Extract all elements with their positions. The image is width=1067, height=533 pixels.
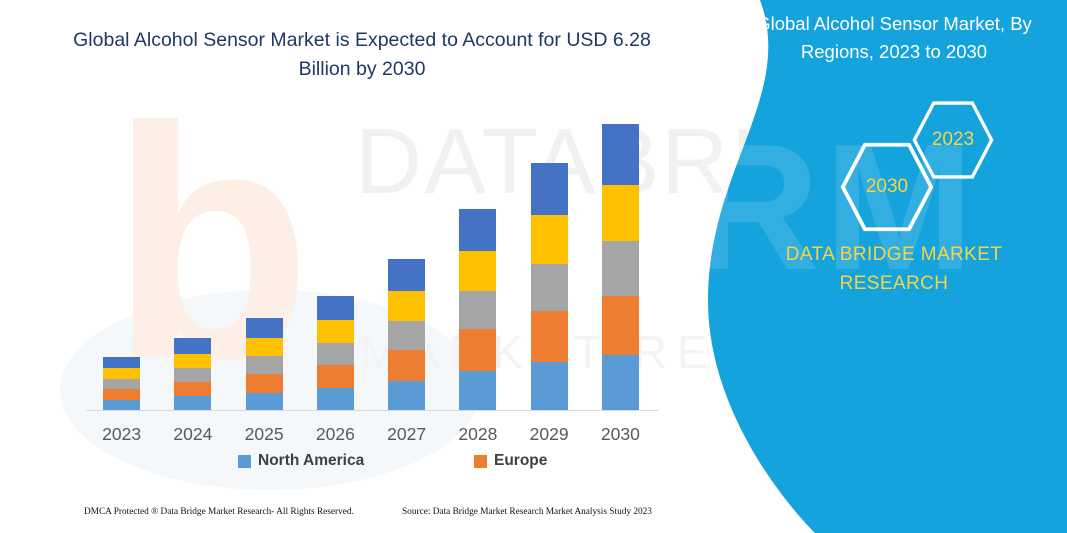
bar-segment-series-4 (103, 368, 140, 379)
x-label-2024: 2024 (158, 424, 228, 445)
bar-segment-north-america (174, 396, 211, 411)
legend-label: North America (258, 452, 364, 470)
chart-legend: North AmericaEurope (86, 452, 658, 478)
x-label-2026: 2026 (300, 424, 370, 445)
bar-segment-north-america (246, 393, 283, 411)
bar-segment-series-5 (103, 357, 140, 368)
bar-segment-series-4 (317, 320, 354, 343)
bar-segment-series-3 (531, 264, 568, 311)
bar-segment-north-america (459, 371, 496, 411)
bar-segment-series-4 (174, 354, 211, 369)
x-label-2030: 2030 (585, 424, 655, 445)
legend-swatch-icon (474, 455, 487, 468)
chart-title: Global Alcohol Sensor Market is Expected… (52, 26, 672, 84)
legend-item-europe[interactable]: Europe (474, 452, 547, 470)
bar-segment-series-4 (531, 215, 568, 264)
hexagon-2023: 2023 (911, 98, 995, 182)
bar-segment-north-america (602, 355, 639, 411)
footer-dmca-text: DMCA Protected ® Data Bridge Market Rese… (84, 507, 354, 517)
bar-segment-series-5 (174, 338, 211, 353)
bar-segment-north-america (388, 381, 425, 411)
bar-segment-series-3 (103, 379, 140, 389)
bar-segment-north-america (317, 388, 354, 411)
brand-name: DATA BRIDGE MARKET RESEARCH (736, 240, 1052, 298)
brand-name-line1: DATA BRIDGE MARKET (736, 240, 1052, 269)
bar-segment-europe (103, 389, 140, 400)
chart-panel: b DATABRIDGE MARKET RESEARCH Global Alco… (0, 0, 760, 533)
bar-2030 (602, 124, 639, 411)
x-axis-line (86, 410, 658, 411)
bar-segment-series-5 (388, 259, 425, 291)
bar-segment-europe (531, 311, 568, 362)
footer-source-text: Source: Data Bridge Market Research Mark… (402, 507, 652, 517)
x-label-2028: 2028 (443, 424, 513, 445)
bar-segment-north-america (531, 362, 568, 411)
x-axis-labels: 20232024202520262027202820292030 (86, 424, 658, 450)
bar-segment-series-4 (388, 291, 425, 321)
bar-segment-series-5 (317, 296, 354, 321)
bar-segment-europe (602, 296, 639, 355)
bar-segment-series-3 (246, 356, 283, 373)
bar-segment-series-5 (459, 209, 496, 251)
bar-segment-europe (317, 365, 354, 389)
bar-2027 (388, 259, 425, 411)
bar-2026 (317, 296, 354, 411)
x-label-2025: 2025 (229, 424, 299, 445)
hexagon-2023-label: 2023 (911, 98, 995, 182)
bar-2029 (531, 163, 568, 411)
bar-2023 (103, 357, 140, 411)
bar-segment-series-5 (602, 124, 639, 185)
bar-segment-series-3 (174, 368, 211, 382)
bar-2025 (246, 318, 283, 411)
bar-2024 (174, 338, 211, 411)
legend-label: Europe (494, 452, 547, 470)
brand-name-line2: RESEARCH (736, 269, 1052, 298)
footer: DMCA Protected ® Data Bridge Market Rese… (84, 507, 684, 523)
bar-segment-series-3 (602, 241, 639, 296)
bar-segment-europe (459, 329, 496, 371)
bar-segment-europe (246, 374, 283, 393)
bar-segment-europe (174, 382, 211, 397)
x-label-2023: 2023 (87, 424, 157, 445)
bar-segment-europe (388, 350, 425, 381)
infographic-root: b DATABRIDGE MARKET RESEARCH Global Alco… (0, 0, 1067, 533)
bar-segment-series-5 (531, 163, 568, 215)
bar-segment-series-3 (388, 321, 425, 350)
bar-segment-series-3 (459, 291, 496, 329)
x-label-2027: 2027 (372, 424, 442, 445)
bar-segment-series-5 (246, 318, 283, 338)
bar-2028 (459, 209, 496, 411)
brand-panel-title: Global Alcohol Sensor Market, By Regions… (736, 10, 1052, 66)
bar-segment-series-3 (317, 343, 354, 365)
brand-panel: RM Global Alcohol Sensor Market, By Regi… (700, 0, 1067, 533)
x-label-2029: 2029 (514, 424, 584, 445)
bar-segment-series-4 (602, 185, 639, 241)
legend-swatch-icon (238, 455, 251, 468)
bar-segment-series-4 (459, 251, 496, 291)
bar-segment-series-4 (246, 338, 283, 356)
legend-item-north-america[interactable]: North America (238, 452, 364, 470)
chart-plot-area (86, 120, 656, 411)
